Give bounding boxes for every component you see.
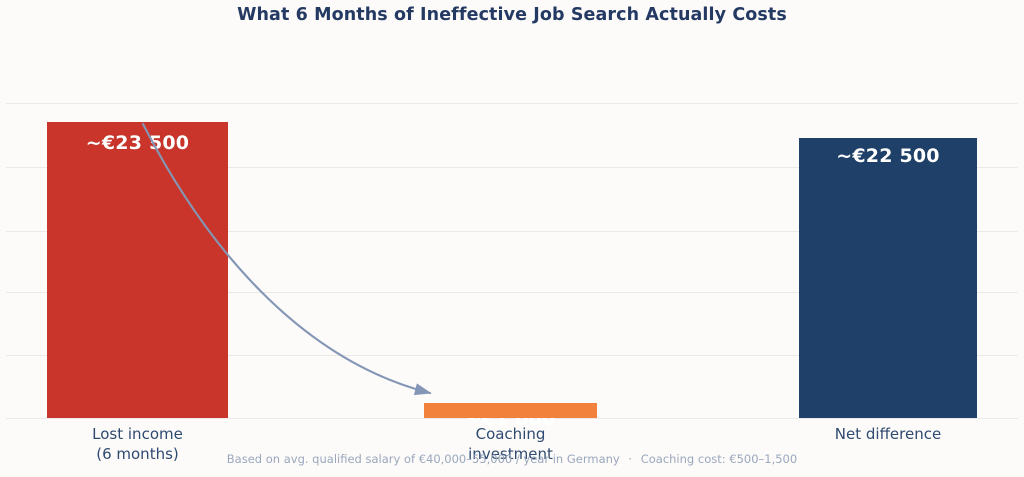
footnote-left: Based on avg. qualified salary of €40,00… xyxy=(227,452,620,466)
bar-coaching-investment[interactable] xyxy=(424,403,597,418)
bar-value-net-difference: ~€22 500 xyxy=(799,145,977,167)
category-label-line1: Lost income xyxy=(92,425,183,443)
category-label-net-difference: Net difference xyxy=(799,424,977,444)
bar-value-lost-income: ~€23 500 xyxy=(47,132,228,154)
footnote-right: Coaching cost: €500–1,500 xyxy=(641,452,798,466)
bar-lost-income[interactable] xyxy=(47,122,228,418)
chart-canvas: What 6 Months of Ineffective Job Search … xyxy=(0,0,1024,477)
footnote-separator: · xyxy=(623,452,637,466)
chart-footnote: Based on avg. qualified salary of €40,00… xyxy=(0,452,1024,466)
gridline xyxy=(6,103,1018,104)
category-label-line1: Net difference xyxy=(835,425,941,443)
bar-net-difference[interactable] xyxy=(799,138,977,418)
